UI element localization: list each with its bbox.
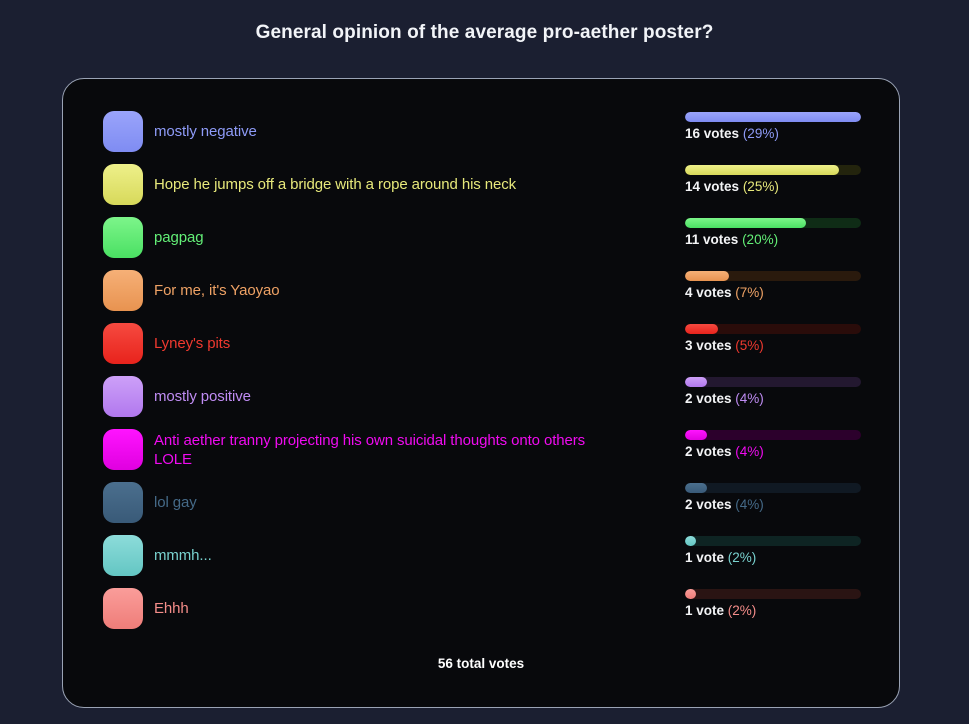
option-label: Anti aether tranny projecting his own su… xyxy=(154,431,674,469)
option-result: 16 votes (29%) xyxy=(685,112,865,141)
option-color-swatch xyxy=(103,429,143,470)
vote-bar-fill xyxy=(685,430,707,440)
vote-percent: (4%) xyxy=(735,444,764,459)
option-color-swatch xyxy=(103,376,143,417)
vote-bar-track xyxy=(685,430,861,440)
poll-option-row[interactable]: mostly positive2 votes (4%) xyxy=(63,370,899,423)
option-label: pagpag xyxy=(154,228,674,247)
vote-count: 16 votes xyxy=(685,126,739,141)
option-color-swatch xyxy=(103,270,143,311)
option-label: Hope he jumps off a bridge with a rope a… xyxy=(154,175,674,194)
option-color-swatch xyxy=(103,588,143,629)
vote-count: 14 votes xyxy=(685,179,739,194)
poll-option-row[interactable]: Hope he jumps off a bridge with a rope a… xyxy=(63,158,899,211)
option-label: mostly negative xyxy=(154,122,674,141)
vote-count-caption: 1 vote (2%) xyxy=(685,550,865,565)
vote-bar-fill xyxy=(685,377,707,387)
vote-bar-track xyxy=(685,483,861,493)
vote-count-caption: 2 votes (4%) xyxy=(685,497,865,512)
poll-option-row[interactable]: Ehhh1 vote (2%) xyxy=(63,582,899,635)
vote-bar-track xyxy=(685,324,861,334)
vote-bar-track xyxy=(685,589,861,599)
poll-options-list: mostly negative16 votes (29%)Hope he jum… xyxy=(63,105,899,635)
vote-percent: (20%) xyxy=(742,232,778,247)
option-label: mmmh... xyxy=(154,546,674,565)
vote-percent: (2%) xyxy=(728,550,757,565)
vote-bar-fill xyxy=(685,483,707,493)
option-color-swatch xyxy=(103,482,143,523)
option-result: 2 votes (4%) xyxy=(685,430,865,459)
vote-count: 2 votes xyxy=(685,391,732,406)
vote-count: 11 votes xyxy=(685,232,738,247)
vote-count: 2 votes xyxy=(685,444,732,459)
poll-option-row[interactable]: Anti aether tranny projecting his own su… xyxy=(63,423,899,476)
vote-bar-track xyxy=(685,218,861,228)
option-result: 4 votes (7%) xyxy=(685,271,865,300)
option-label: mostly positive xyxy=(154,387,674,406)
vote-count-caption: 16 votes (29%) xyxy=(685,126,865,141)
page-title: General opinion of the average pro-aethe… xyxy=(0,0,969,48)
vote-percent: (7%) xyxy=(735,285,764,300)
vote-count-caption: 14 votes (25%) xyxy=(685,179,865,194)
vote-count-caption: 2 votes (4%) xyxy=(685,444,865,459)
vote-count-caption: 1 vote (2%) xyxy=(685,603,865,618)
vote-bar-track xyxy=(685,271,861,281)
poll-option-row[interactable]: mostly negative16 votes (29%) xyxy=(63,105,899,158)
poll-option-row[interactable]: Lyney's pits3 votes (5%) xyxy=(63,317,899,370)
option-color-swatch xyxy=(103,164,143,205)
vote-count-caption: 2 votes (4%) xyxy=(685,391,865,406)
vote-bar-fill xyxy=(685,218,806,228)
option-result: 1 vote (2%) xyxy=(685,536,865,565)
option-result: 2 votes (4%) xyxy=(685,377,865,406)
option-color-swatch xyxy=(103,535,143,576)
vote-bar-track xyxy=(685,377,861,387)
vote-bar-fill xyxy=(685,112,861,122)
option-label: Ehhh xyxy=(154,599,674,618)
option-color-swatch xyxy=(103,323,143,364)
option-result: 3 votes (5%) xyxy=(685,324,865,353)
vote-bar-track xyxy=(685,165,861,175)
option-color-swatch xyxy=(103,111,143,152)
vote-bar-fill xyxy=(685,536,696,546)
vote-percent: (29%) xyxy=(743,126,779,141)
poll-card: mostly negative16 votes (29%)Hope he jum… xyxy=(62,78,900,708)
option-result: 14 votes (25%) xyxy=(685,165,865,194)
option-result: 2 votes (4%) xyxy=(685,483,865,512)
poll-option-row[interactable]: For me, it's Yaoyao4 votes (7%) xyxy=(63,264,899,317)
vote-count: 4 votes xyxy=(685,285,732,300)
vote-bar-fill xyxy=(685,324,718,334)
option-result: 11 votes (20%) xyxy=(685,218,865,247)
vote-count-caption: 11 votes (20%) xyxy=(685,232,865,247)
option-result: 1 vote (2%) xyxy=(685,589,865,618)
poll-option-row[interactable]: mmmh...1 vote (2%) xyxy=(63,529,899,582)
total-votes-label: 56 total votes xyxy=(63,656,899,671)
poll-option-row[interactable]: lol gay2 votes (4%) xyxy=(63,476,899,529)
vote-count-caption: 4 votes (7%) xyxy=(685,285,865,300)
vote-count: 3 votes xyxy=(685,338,732,353)
option-color-swatch xyxy=(103,217,143,258)
vote-count: 1 vote xyxy=(685,550,724,565)
vote-bar-fill xyxy=(685,165,839,175)
poll-option-row[interactable]: pagpag11 votes (20%) xyxy=(63,211,899,264)
vote-percent: (4%) xyxy=(735,391,764,406)
vote-count-caption: 3 votes (5%) xyxy=(685,338,865,353)
option-label: lol gay xyxy=(154,493,674,512)
vote-bar-fill xyxy=(685,589,696,599)
vote-percent: (4%) xyxy=(735,497,764,512)
vote-percent: (25%) xyxy=(743,179,779,194)
vote-bar-fill xyxy=(685,271,729,281)
vote-percent: (2%) xyxy=(728,603,757,618)
option-label: Lyney's pits xyxy=(154,334,674,353)
vote-bar-track xyxy=(685,536,861,546)
vote-count: 2 votes xyxy=(685,497,732,512)
vote-bar-track xyxy=(685,112,861,122)
option-label: For me, it's Yaoyao xyxy=(154,281,674,300)
vote-count: 1 vote xyxy=(685,603,724,618)
vote-percent: (5%) xyxy=(735,338,764,353)
